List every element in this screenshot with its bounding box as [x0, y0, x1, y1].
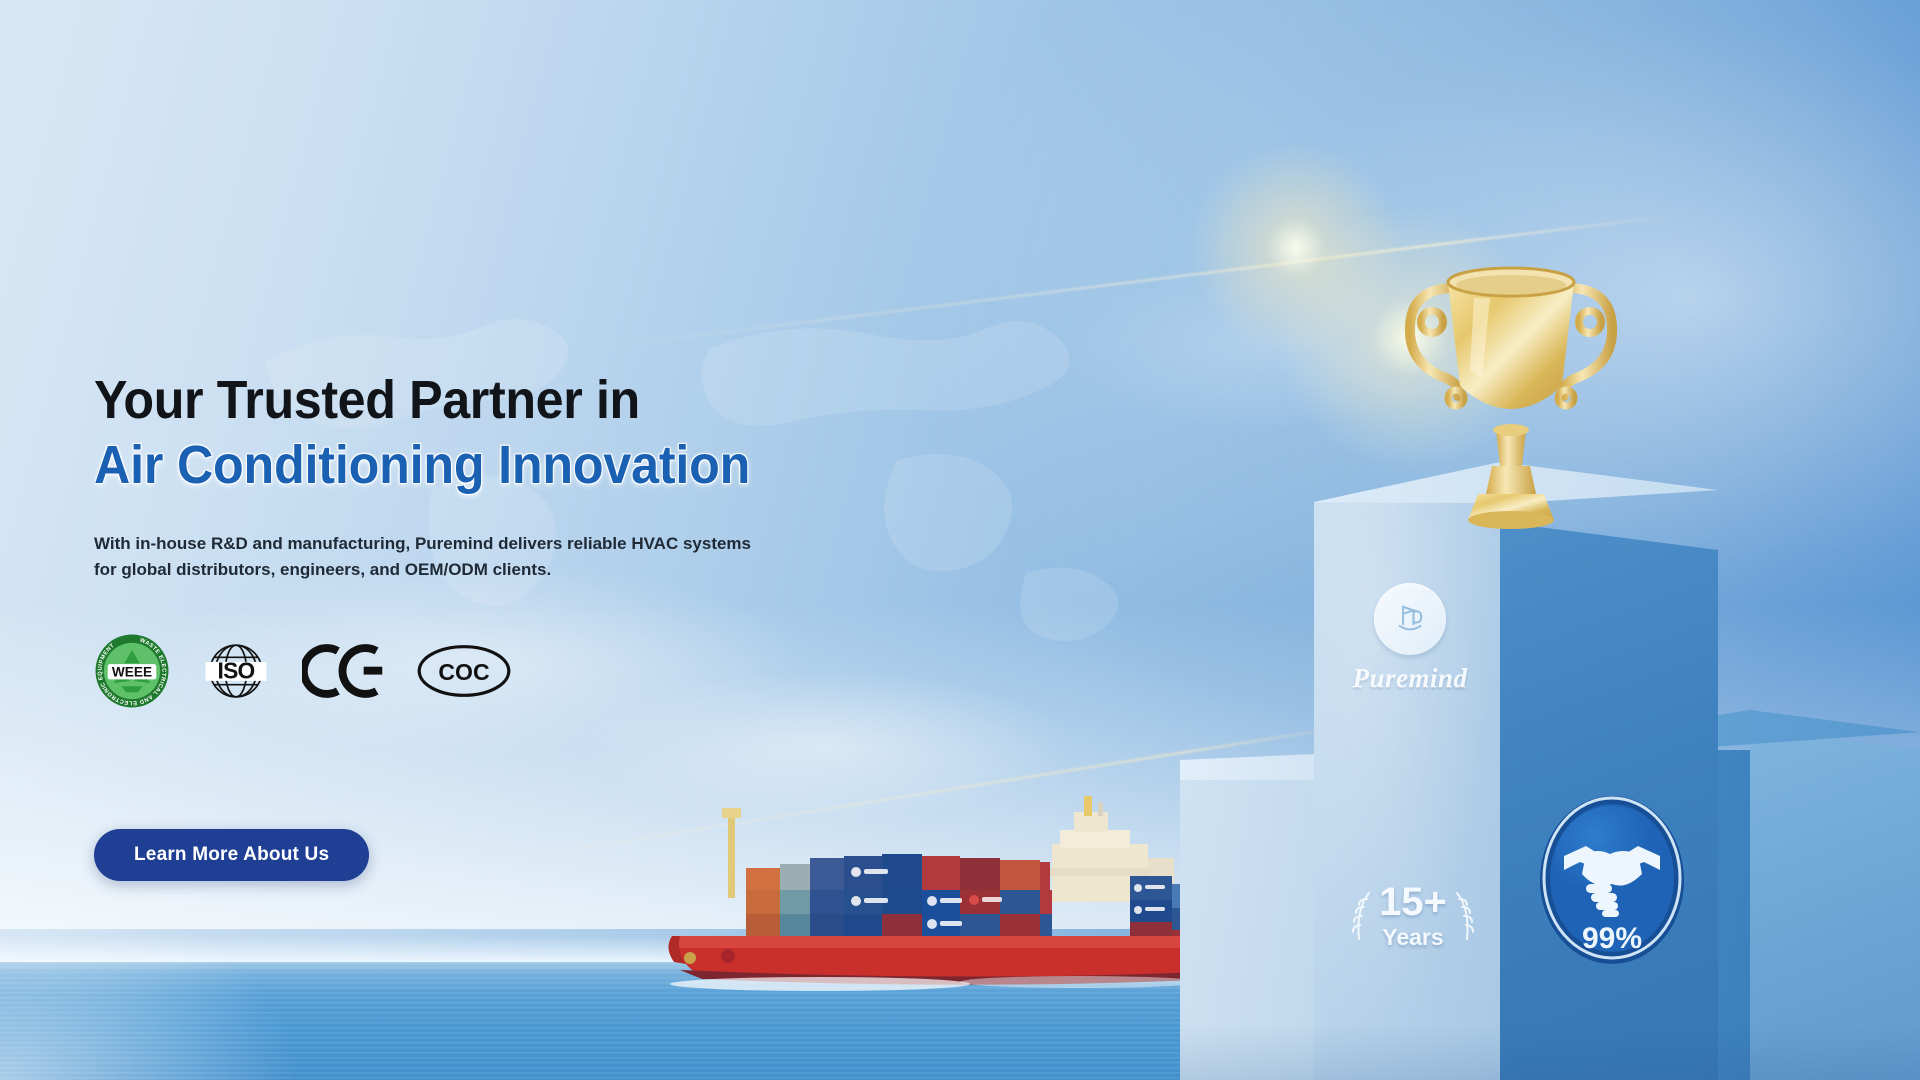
satisfaction-badge: 99%: [1536, 792, 1688, 968]
podium-display: Customets in more than 300+ regions: [1180, 250, 1920, 1080]
puremind-monogram-icon: [1374, 583, 1446, 655]
brand-name: Puremind: [1350, 663, 1470, 694]
cert-badge-weee: WEEE WASTE ELECTRICAL AND ELECTRONIC EQU…: [94, 633, 170, 709]
brand-logo: Puremind: [1350, 583, 1470, 694]
regions-stat: Customets in more than 300+ regions: [1856, 599, 1920, 709]
coc-oval-icon: COC: [416, 639, 512, 703]
years-stat: 15+ Years: [1334, 882, 1492, 952]
page-title-line-1: Your Trusted Partner in: [94, 372, 894, 429]
laurel-left-icon: [1351, 887, 1375, 947]
satisfaction-percent: 99%: [1582, 922, 1642, 955]
regions-stat-line-2: 300+ regions: [1856, 648, 1920, 709]
years-label: Years: [1379, 924, 1447, 952]
podium-main-front: Puremind 15+ Years: [1314, 502, 1500, 1080]
laurel-right-icon: [1451, 887, 1475, 947]
podium-ground-shadow: [1180, 1024, 1920, 1080]
cert-badge-coc: COC: [416, 639, 512, 703]
svg-text:COC: COC: [438, 659, 489, 685]
hero-banner: Your Trusted Partner in Air Conditioning…: [0, 0, 1920, 1080]
regions-stat-line-1: Customets in more than: [1856, 599, 1920, 672]
hero-content: Your Trusted Partner in Air Conditioning…: [94, 372, 954, 881]
hero-subtitle-line-1: With in-house R&D and manufacturing, Pur…: [94, 534, 751, 553]
gold-trophy-icon: [1386, 202, 1636, 532]
hero-subtitle-line-2: for global distributors, engineers, and …: [94, 560, 551, 579]
years-number: 15+: [1379, 882, 1447, 922]
weee-badge-icon: WEEE WASTE ELECTRICAL AND ELECTRONIC EQU…: [94, 633, 170, 709]
cert-badge-ce: [302, 635, 388, 707]
iso-globe-icon: ISO: [198, 633, 274, 709]
svg-text:ISO: ISO: [218, 658, 255, 684]
cert-badge-iso: ISO: [198, 633, 274, 709]
certification-badges: WEEE WASTE ELECTRICAL AND ELECTRONIC EQU…: [94, 633, 954, 709]
svg-text:WEEE: WEEE: [112, 665, 152, 680]
hero-subtitle: With in-house R&D and manufacturing, Pur…: [94, 531, 794, 584]
podium-left-block-top: [1180, 754, 1316, 780]
page-title-line-2: Air Conditioning Innovation: [94, 435, 894, 497]
ce-mark-icon: [302, 635, 388, 707]
learn-more-button[interactable]: Learn More About Us: [94, 829, 369, 881]
